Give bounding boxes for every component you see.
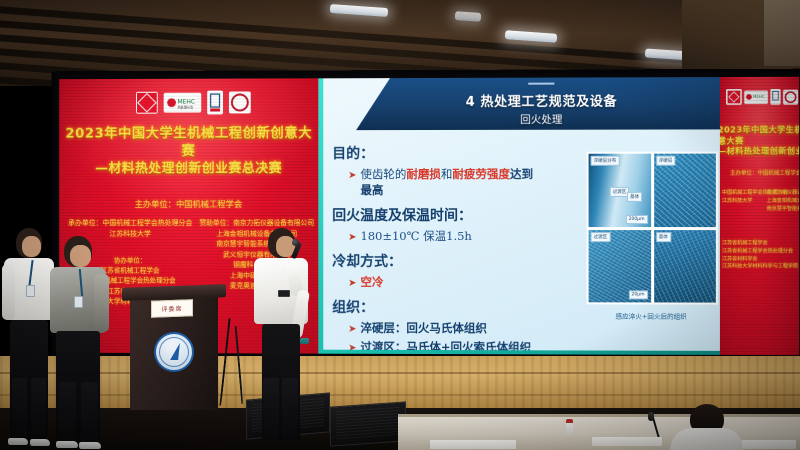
face [70, 245, 91, 267]
slide-title-bar: 4 热处理工艺规范及设备 回火处理 [356, 77, 728, 130]
arm [2, 264, 15, 320]
seal-logo-icon [783, 89, 798, 104]
event-banner-right: MEHC 2023年中国大学生机械工程创新创意大赛 [720, 77, 799, 355]
microstructure-value-1: 淬硬层：回火马氏体组织 [361, 320, 487, 336]
banner-title-line1-right: 2023年中国大学生机械工程创新创意大赛 [720, 125, 799, 147]
micrograph-inner-tag: 基体 [627, 192, 642, 202]
bullet-temperature-1: ➤ 180±10℃ 保温1.5h [348, 228, 538, 244]
right-wall [682, 0, 800, 74]
micrograph-tag: 淬硬层分布 [591, 156, 620, 166]
auditorium-scene: MEHC 热处理分会 [0, 0, 800, 450]
shoe [30, 439, 50, 446]
svg-text:MEHC: MEHC [753, 93, 765, 98]
leg [81, 382, 98, 444]
banner-title: 2023年中国大学生机械工程创新创意大赛 —材料热处理创新创业赛总决赛 [65, 124, 312, 178]
micrograph-tag: 过渡区 [591, 232, 611, 242]
papers [430, 440, 516, 449]
section-heading-microstructure: 组织： [332, 297, 538, 317]
slide-subtitle: 回火处理 [356, 111, 728, 127]
wall-panel [764, 0, 800, 66]
micrograph-scale: 200μm [626, 214, 648, 223]
water-bottle [566, 422, 573, 435]
ceiling-light [505, 30, 558, 43]
book-logo-icon [207, 91, 223, 115]
judge-shoulders [670, 428, 744, 450]
bottle-cap [566, 419, 573, 423]
badge [26, 285, 35, 297]
emblem-logo-icon [726, 89, 742, 105]
presentation-slide: 4 热处理工艺规范及设备 回火处理 目的： ➤ 使齿轮的耐磨损和耐疲劳强度达到最… [318, 77, 728, 355]
banner-title-line2: —材料热处理创新创业赛总决赛 [65, 160, 312, 178]
bullet-cooling-1: ➤ 空冷 [348, 274, 538, 290]
sponsor-value-2-right: 南京慧宇智能系统有限公司 [767, 205, 800, 213]
micrograph-caption: 感应淬火+回火后的组织 [587, 310, 716, 320]
banner-title-line1: 2023年中国大学生机械工程创新创意大赛 [65, 124, 312, 160]
stage-wood-panel [0, 356, 800, 408]
sponsor-value-1-right: 上海金相机械设备有限公司 [767, 198, 800, 206]
organizer-value-right: 中国机械工程学会 [757, 171, 799, 177]
temperature-value: 180±10℃ 保温1.5h [361, 228, 472, 244]
bullet-arrow-icon: ➤ [348, 278, 356, 289]
section-heading-cooling: 冷却方式： [332, 251, 538, 271]
stage-monitor-speaker [330, 401, 406, 446]
bullet-arrow-icon: ➤ [348, 324, 356, 335]
sponsor-value-0: 南京力拓仪器设备有限公司 [233, 219, 314, 227]
papers [742, 440, 796, 449]
mechc-logo-icon: MEHC 热处理分会 [164, 93, 202, 113]
table-edge [398, 414, 800, 417]
purpose-mid: 和 [441, 167, 453, 181]
section-heading-temperature: 回火温度及保温时间： [332, 205, 538, 225]
presentation-clicker[interactable] [300, 338, 309, 344]
slide-body: 目的： ➤ 使齿轮的耐磨损和耐疲劳强度达到最高 回火温度及保温时间： ➤ 180… [332, 136, 538, 355]
cooling-value: 空冷 [361, 274, 384, 290]
bullet-purpose-1: ➤ 使齿轮的耐磨损和耐疲劳强度达到最高 [348, 166, 538, 198]
bullet-arrow-icon: ➤ [348, 170, 356, 181]
face [22, 236, 41, 257]
presenter-speaking [252, 228, 314, 450]
support-value-1-right: 江苏省机械工程学会热处理分会 [722, 248, 799, 256]
purpose-highlight-2: 耐疲劳强度 [452, 167, 510, 181]
ceiling-light [455, 11, 482, 22]
slide-left-edge [318, 78, 323, 353]
slide-bottom-edge [318, 350, 728, 355]
organizer-value: 中国机械工程学会 [176, 199, 242, 209]
banner-org-right: 主办单位：中国机械工程学会 [730, 170, 799, 179]
host-value-0: 中国机械工程学会热处理分会 [103, 219, 193, 227]
purpose-prefix: 使齿轮的 [361, 167, 407, 181]
leg [31, 378, 46, 440]
support-value-0-right: 江苏省机械工程学会 [722, 240, 799, 248]
book-logo-icon [770, 89, 780, 105]
micrograph-tag: 基体 [656, 232, 671, 242]
banner-sponsor-right: 南京力拓仪器设备有限公司 上海金相机械设备有限公司 南京慧宇智能系统有限公司 [767, 190, 800, 213]
podium-top [122, 284, 226, 301]
micrograph-grid: 淬硬层分布 过渡区 基体 200μm 淬硬层 过渡区 20μm 基体 [587, 152, 718, 305]
nameplate: 评委席 [151, 299, 193, 317]
banner-organizer: 主办单位：中国机械工程学会 [59, 198, 318, 211]
purpose-highlight-1: 耐磨损 [406, 167, 440, 181]
host-label: 承办单位： [68, 219, 102, 227]
microphone-head-icon [292, 239, 299, 246]
leg [282, 378, 298, 440]
title-tick [528, 83, 554, 85]
micrograph-panel-2: 淬硬层 [654, 154, 716, 227]
presenter-center [50, 236, 110, 450]
badge [74, 296, 83, 308]
section-heading-purpose: 目的： [332, 143, 538, 163]
slide-title: 4 热处理工艺规范及设备 [356, 90, 728, 110]
mechc-logo-icon: MEHC [744, 90, 768, 103]
svg-text:热处理分会: 热处理分会 [178, 104, 195, 109]
micrograph-scale: 20μm [628, 290, 647, 299]
support-value-3-right: 江苏科技大学材料科学与工程学院 [722, 264, 799, 272]
micrograph-tag: 淬硬层 [656, 156, 676, 166]
micrograph-panel-4: 基体 [654, 230, 716, 303]
shoe [8, 438, 28, 445]
badge [278, 290, 290, 297]
micrograph-panel-3: 过渡区 20μm [589, 230, 651, 303]
arm [94, 274, 109, 332]
bullet-arrow-icon: ➤ [348, 232, 356, 243]
banner-logos-right: MEHC [726, 89, 798, 105]
ceiling-light [330, 4, 388, 17]
organizer-label: 主办单位： [135, 199, 176, 209]
shoe [56, 441, 78, 448]
leg [12, 378, 27, 440]
micrograph-panel-1: 淬硬层分布 过渡区 基体 200μm [589, 154, 651, 227]
banner-title-right: 2023年中国大学生机械工程创新创意大赛 —材料热处理创新创业赛总决赛 [720, 125, 799, 158]
bullet-microstructure-1: ➤ 淬硬层：回火马氏体组织 [348, 320, 538, 337]
sponsor-value-0-right: 南京力拓仪器设备有限公司 [767, 190, 800, 198]
leg [263, 378, 279, 440]
leg [59, 382, 76, 444]
papers [592, 437, 662, 446]
banner-logos: MEHC 热处理分会 [136, 91, 251, 115]
shoe [79, 442, 101, 449]
university-crest-icon [154, 332, 194, 372]
emblem-logo-icon [136, 92, 158, 114]
organizer-label-right: 主办单位： [730, 171, 757, 177]
banner-title-line2-right: —材料热处理创新创业赛总决赛 [720, 147, 799, 158]
seal-logo-icon [229, 92, 251, 114]
table-microphone-head-icon [648, 412, 654, 421]
banner-support-right: 江苏省机械工程学会 江苏省机械工程学会热处理分会 江苏省材料学会 江苏科技大学材… [722, 240, 799, 271]
sponsor-label: 赞助单位： [199, 219, 233, 227]
